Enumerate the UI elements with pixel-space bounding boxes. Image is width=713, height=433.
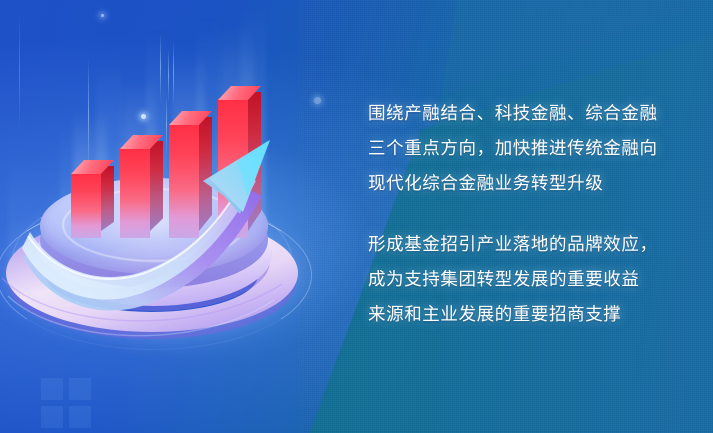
paragraph-2: 形成基金招引产业落地的品牌效应， 成为支持集团转型发展的重要收益 来源和主业发展… bbox=[368, 227, 688, 332]
paragraph-1-line-3: 现代化综合金融业务转型升级 bbox=[368, 166, 688, 201]
illustration-stage bbox=[0, 0, 340, 433]
paragraph-2-line-2: 成为支持集团转型发展的重要收益 bbox=[368, 262, 688, 297]
paragraph-2-line-1: 形成基金招引产业落地的品牌效应， bbox=[368, 227, 688, 262]
paragraph-1-line-2: 三个重点方向，加快推进传统金融向 bbox=[368, 131, 688, 166]
paragraph-1: 围绕产融结合、科技金融、综合金融 三个重点方向，加快推进传统金融向 现代化综合金… bbox=[368, 96, 688, 201]
paragraph-2-line-3: 来源和主业发展的重要招商支撑 bbox=[368, 297, 688, 332]
paragraph-1-line-1: 围绕产融结合、科技金融、综合金融 bbox=[368, 96, 688, 131]
growth-arrow-svg bbox=[0, 0, 340, 433]
banner-root: 围绕产融结合、科技金融、综合金融 三个重点方向，加快推进传统金融向 现代化综合金… bbox=[0, 0, 713, 433]
text-panel: 围绕产融结合、科技金融、综合金融 三个重点方向，加快推进传统金融向 现代化综合金… bbox=[368, 96, 688, 332]
